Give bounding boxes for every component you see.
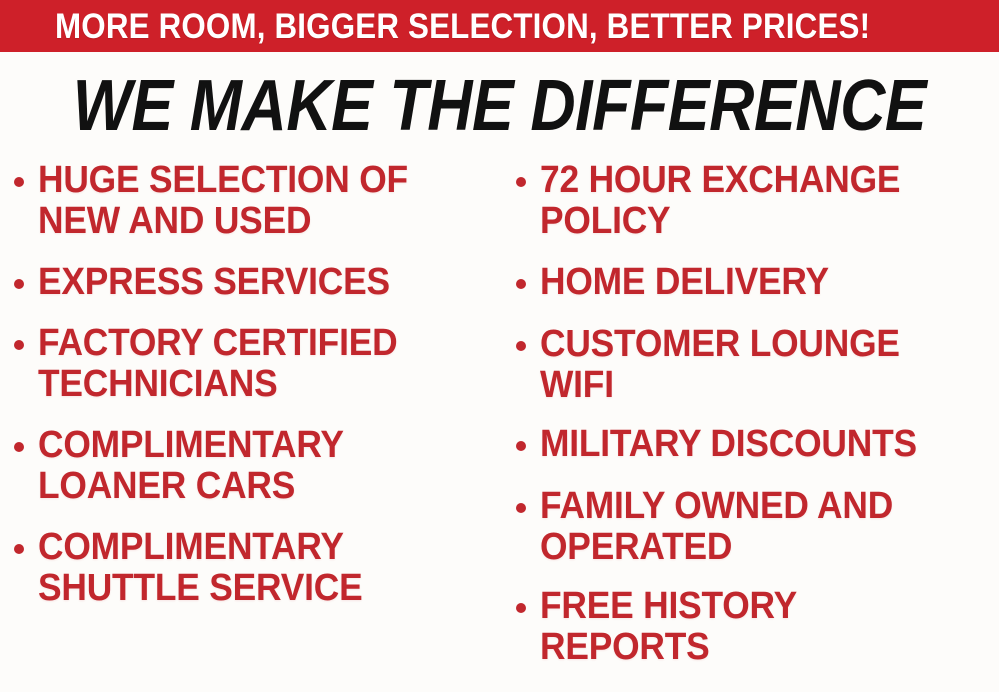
list-item-label: HOME DELIVERY <box>540 262 999 303</box>
list-item: CUSTOMER LOUNGE WIFI <box>516 324 999 406</box>
list-item: FAMILY OWNED AND OPERATED <box>516 486 999 568</box>
bullet-dot-icon <box>14 279 24 289</box>
list-item: HOME DELIVERY <box>516 262 999 303</box>
list-item: FACTORY CERTIFIED TECHNICIANS <box>14 323 494 405</box>
page-title-text: WE MAKE THE DIFFERENCE <box>73 70 926 142</box>
list-item-label: COMPLIMENTARY SHUTTLE SERVICE <box>38 527 494 609</box>
features-column-right: 72 HOUR EXCHANGE POLICY HOME DELIVERY CU… <box>516 160 999 690</box>
list-item: HUGE SELECTION OF NEW AND USED <box>14 160 494 242</box>
bullet-dot-icon <box>516 177 526 187</box>
list-item: 72 HOUR EXCHANGE POLICY <box>516 160 999 242</box>
list-item-label: 72 HOUR EXCHANGE POLICY <box>540 160 999 242</box>
list-item-label: FREE HISTORY REPORTS <box>540 586 999 668</box>
bullet-dot-icon <box>14 442 24 452</box>
bullet-dot-icon <box>14 340 24 350</box>
features-column-left: HUGE SELECTION OF NEW AND USED EXPRESS S… <box>14 160 494 631</box>
list-item-label: FACTORY CERTIFIED TECHNICIANS <box>38 323 494 405</box>
list-item-label: COMPLIMENTARY LOANER CARS <box>38 425 494 507</box>
bullet-dot-icon <box>516 503 526 513</box>
bullet-dot-icon <box>516 603 526 613</box>
list-item: EXPRESS SERVICES <box>14 262 494 303</box>
promo-banner: MORE ROOM, BIGGER SELECTION, BETTER PRIC… <box>0 0 999 52</box>
page-title: WE MAKE THE DIFFERENCE <box>0 70 999 142</box>
list-item: MILITARY DISCOUNTS <box>516 424 999 465</box>
bullet-dot-icon <box>14 177 24 187</box>
bullet-dot-icon <box>516 441 526 451</box>
list-item-label: MILITARY DISCOUNTS <box>540 424 999 465</box>
list-item-label: HUGE SELECTION OF NEW AND USED <box>38 160 494 242</box>
list-item-label: CUSTOMER LOUNGE WIFI <box>540 324 999 406</box>
bullet-dot-icon <box>516 279 526 289</box>
list-item: COMPLIMENTARY LOANER CARS <box>14 425 494 507</box>
bullet-dot-icon <box>516 341 526 351</box>
list-item-label: EXPRESS SERVICES <box>38 262 494 303</box>
bullet-dot-icon <box>14 544 24 554</box>
list-item-label: FAMILY OWNED AND OPERATED <box>540 486 999 568</box>
features-section: HUGE SELECTION OF NEW AND USED EXPRESS S… <box>0 160 999 692</box>
list-item: COMPLIMENTARY SHUTTLE SERVICE <box>14 527 494 609</box>
list-item: FREE HISTORY REPORTS <box>516 586 999 668</box>
promo-banner-text: MORE ROOM, BIGGER SELECTION, BETTER PRIC… <box>55 9 870 44</box>
